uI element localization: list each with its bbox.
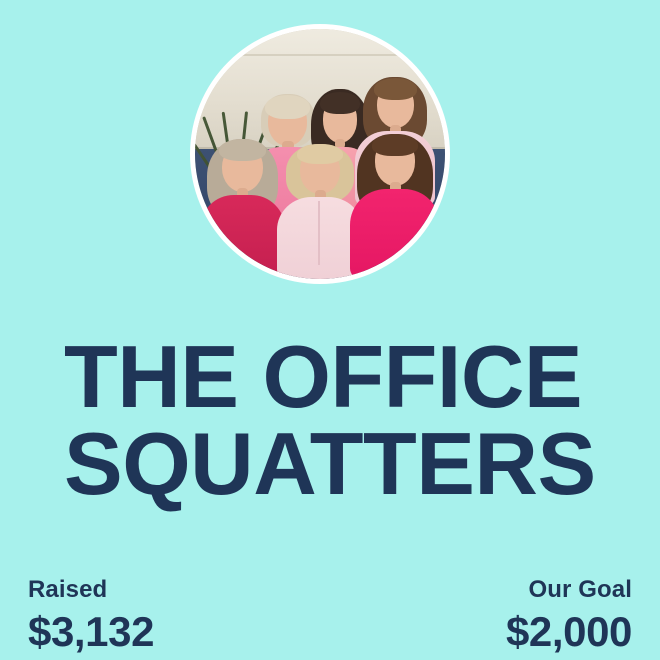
page-title-line-1: THE OFFICE xyxy=(64,333,604,420)
fundraising-stats: Raised $3,132 Our Goal $2,000 xyxy=(0,578,660,660)
page-title-line-2: SQUATTERS xyxy=(64,420,604,507)
stat-goal-value: $2,000 xyxy=(506,611,632,653)
stat-raised-value: $3,132 xyxy=(28,611,154,653)
stat-goal-label: Our Goal xyxy=(529,578,632,602)
photo-wall-trim xyxy=(240,54,400,56)
stat-goal: Our Goal $2,000 xyxy=(506,578,632,653)
fundraiser-page: THE OFFICE SQUATTERS Raised $3,132 Our G… xyxy=(0,0,660,660)
avatar[interactable] xyxy=(190,24,450,284)
page-title: THE OFFICE SQUATTERS xyxy=(64,333,604,507)
team-photo-circle-icon xyxy=(195,29,445,279)
person-front-left xyxy=(200,139,285,279)
stat-raised-label: Raised xyxy=(28,578,154,602)
person-front-right xyxy=(350,134,440,279)
stat-raised: Raised $3,132 xyxy=(28,578,154,653)
